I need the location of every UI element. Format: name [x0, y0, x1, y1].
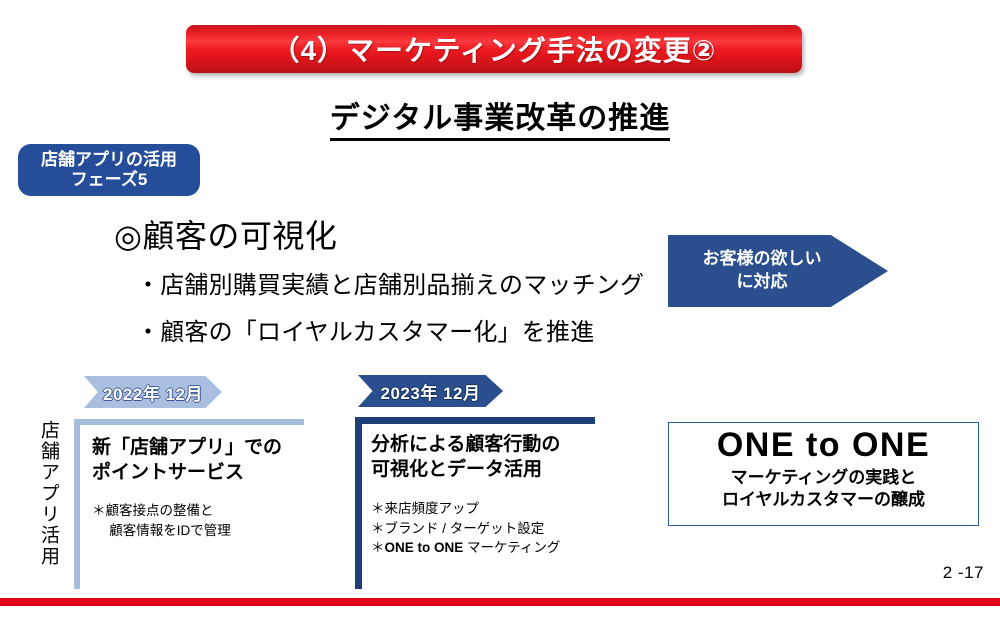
timeline-side-label: 店舗アプリ活用 — [32, 420, 58, 567]
timeline-column-2-title: 分析による顧客行動の 可視化とデータ活用 — [371, 433, 560, 482]
footer-rule — [0, 598, 1000, 606]
timeline-column-2-note-3-prefix: ＊ — [371, 540, 385, 555]
bullet-item-1: ・店舗別購買実績と店舗別品揃えのマッチング — [136, 265, 644, 300]
timeline-column-1-note-2: 顧客情報をIDで管理 — [92, 521, 282, 540]
page-number: 2 -17 — [943, 563, 984, 583]
customer-need-arrow: お客様の欲しい に対応 — [668, 235, 888, 307]
one-to-one-subtitle-line1: マーケティングの実践と — [669, 467, 978, 488]
timeline-column-1-note-1: ＊顧客接点の整備と — [92, 501, 282, 520]
bullet-item-2: ・顧客の「ロイヤルカスタマー化」を推進 — [136, 312, 594, 347]
timeline-column-2-title-line2: 可視化とデータ活用 — [371, 458, 560, 483]
timeline-column-2-note-3: ＊ONE to ONE マーケティング — [371, 538, 560, 557]
timeline-column-1-notes: ＊顧客接点の整備と 顧客情報をIDで管理 — [92, 501, 282, 539]
phase-badge-line1: 店舗アプリの活用 — [41, 150, 177, 170]
timeline-column-1: 新「店舗アプリ」での ポイントサービス ＊顧客接点の整備と 顧客情報をIDで管理 — [92, 436, 282, 540]
timeline-column-1-title-line2: ポイントサービス — [92, 461, 282, 486]
timeline-column-2-notes: ＊来店頻度アップ ＊ブランド / ターゲット設定 ＊ONE to ONE マーケ… — [371, 499, 560, 556]
timeline-date-2022: 2022年 12月 — [84, 376, 222, 408]
timeline-column-2-note-2: ＊ブランド / ターゲット設定 — [371, 519, 560, 538]
timeline-column-2: 分析による顧客行動の 可視化とデータ活用 ＊来店頻度アップ ＊ブランド / ター… — [371, 433, 560, 557]
one-to-one-subtitle: マーケティングの実践と ロイヤルカスタマーの醸成 — [669, 467, 978, 510]
timeline-column-1-title-line1: 新「店舗アプリ」での — [92, 436, 282, 461]
one-to-one-box: ONE to ONE マーケティングの実践と ロイヤルカスタマーの醸成 — [668, 422, 979, 526]
section-heading: ◎顧客の可視化 — [114, 211, 337, 257]
customer-need-line2: に対応 — [737, 271, 788, 294]
phase-badge: 店舗アプリの活用 フェーズ5 — [18, 144, 200, 196]
timeline-column-1-title: 新「店舗アプリ」での ポイントサービス — [92, 436, 282, 485]
title-banner: （4）マーケティング手法の変更② — [186, 25, 802, 73]
timeline-column-2-title-line1: 分析による顧客行動の — [371, 433, 560, 458]
page-title-text: デジタル事業改革の推進 — [330, 93, 670, 141]
phase-badge-line2: フェーズ5 — [71, 170, 148, 190]
title-banner-text: （4）マーケティング手法の変更② — [271, 29, 716, 69]
one-to-one-subtitle-line2: ロイヤルカスタマーの醸成 — [669, 489, 978, 510]
slide-canvas: （4）マーケティング手法の変更② デジタル事業改革の推進 店舗アプリの活用 フェ… — [0, 0, 1000, 618]
customer-need-line1: お客様の欲しい — [703, 248, 822, 271]
timeline-column-2-note-3-rest: マーケティング — [463, 540, 560, 555]
page-title: デジタル事業改革の推進 — [0, 93, 1000, 141]
timeline-column-2-note-1: ＊来店頻度アップ — [371, 499, 560, 518]
timeline-date-2023: 2023年 12月 — [358, 375, 503, 407]
timeline-column-2-note-3-strong: ONE to ONE — [385, 540, 464, 555]
one-to-one-title: ONE to ONE — [669, 427, 978, 464]
